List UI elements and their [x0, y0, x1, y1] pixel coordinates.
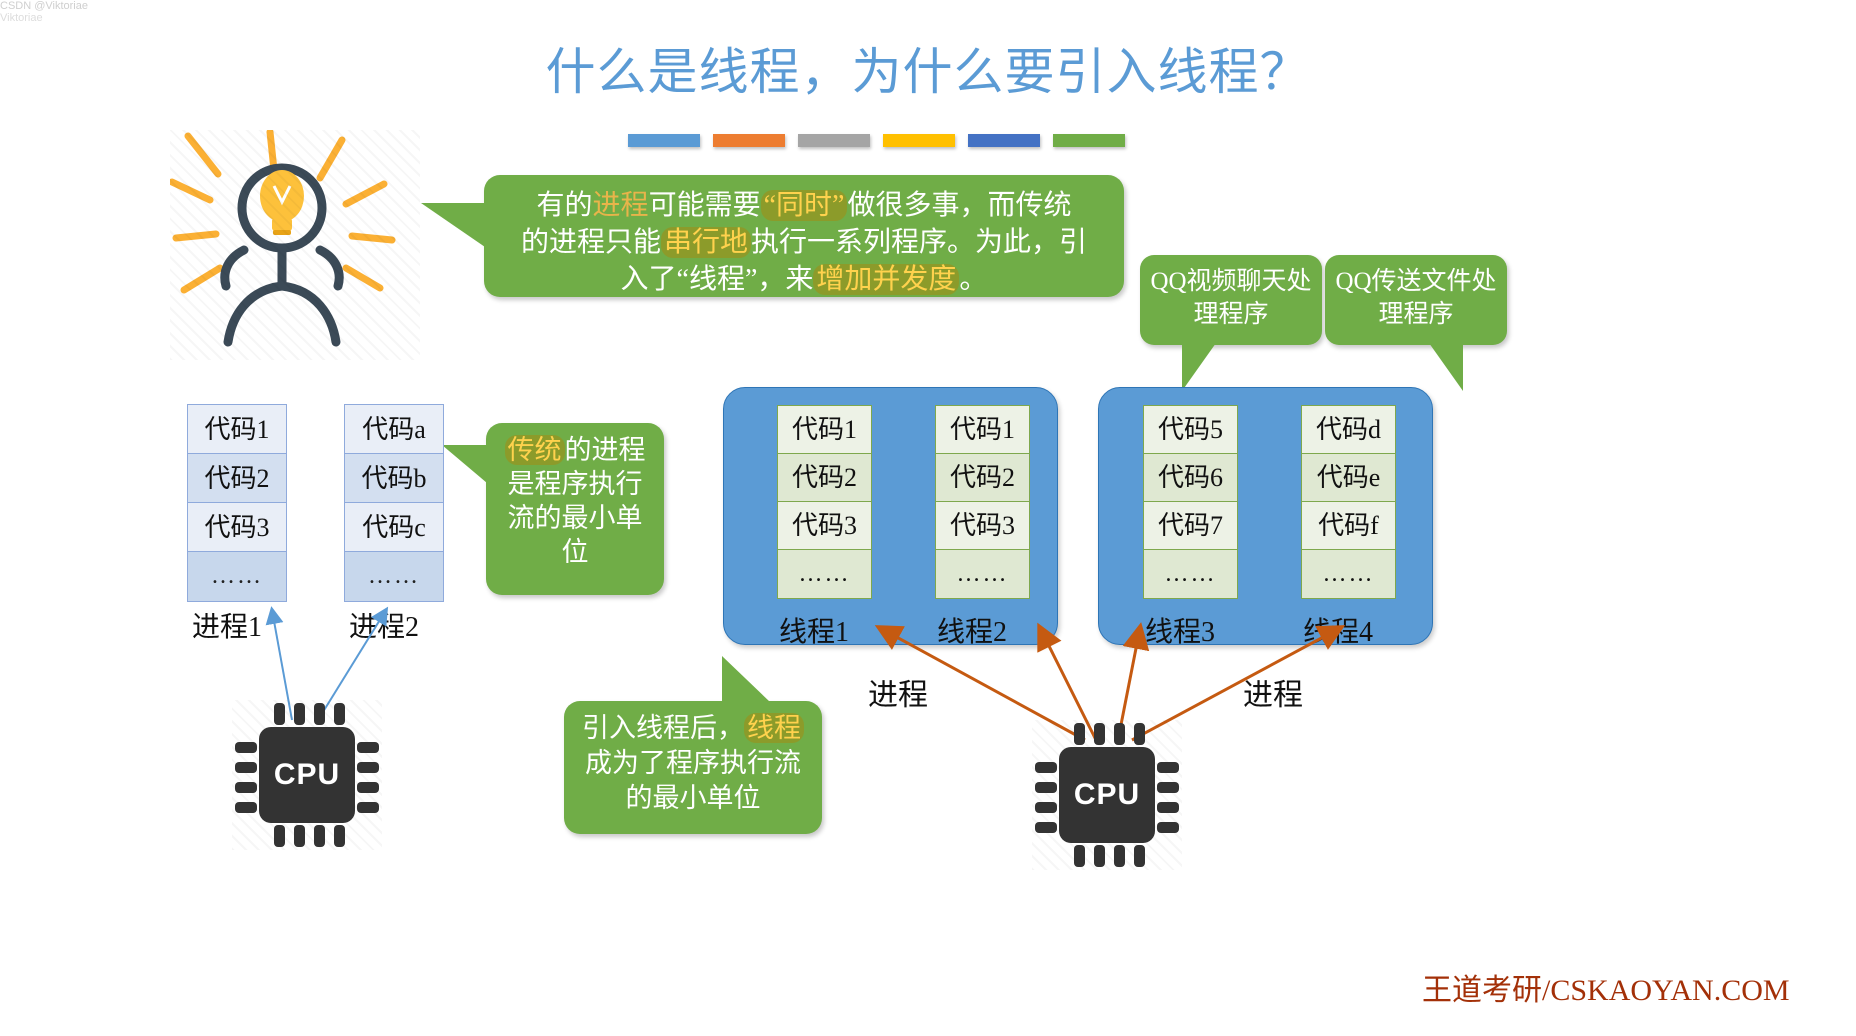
main-l1d: “同时”: [761, 190, 848, 221]
cpu-label: CPU: [259, 727, 355, 823]
cpu-label: CPU: [1059, 747, 1155, 843]
bar-green: [1053, 134, 1125, 147]
code-cell: 代码7: [1144, 502, 1237, 550]
callout-tail: [1429, 343, 1463, 391]
process-1-label: 进程1: [192, 605, 262, 645]
callout-tail: [421, 203, 485, 247]
traditional-process-callout: 传统的进程是程序执行流的最小单位: [486, 423, 664, 595]
main-l1b: 进程: [593, 190, 649, 221]
code-cell: 代码3: [936, 502, 1029, 550]
intro-a: 引入线程后，: [582, 713, 744, 743]
process-2-code-table: 代码a 代码b 代码c ……: [344, 404, 444, 602]
bar-gray: [798, 134, 870, 147]
page-title: 什么是线程，为什么要引入线程？: [0, 32, 1856, 104]
main-l3b: 增加并发度: [813, 264, 959, 295]
qq-video-callout-text: QQ视频聊天处理程序: [1140, 255, 1322, 342]
hatch-texture: [170, 130, 420, 360]
code-cell: 代码1: [778, 406, 871, 454]
bar-darkblue: [968, 134, 1040, 147]
code-cell: 代码3: [188, 503, 286, 552]
code-cell: 代码3: [778, 502, 871, 550]
main-explanation-callout: 有的进程可能需要“同时”做很多事，而传统 的进程只能串行地执行一系列程序。为此，…: [484, 175, 1124, 297]
code-cell: 代码5: [1144, 406, 1237, 454]
code-cell: 代码b: [345, 454, 443, 503]
accent-bar-row: [628, 134, 1125, 147]
slide-canvas: 什么是线程，为什么要引入线程？: [0, 0, 1856, 1036]
cpu-chip-right: CPU: [1032, 720, 1182, 870]
intro-hl: 线程: [744, 713, 804, 743]
code-cell: 代码a: [345, 405, 443, 454]
thread-4-code-table: 代码d 代码e 代码f ……: [1301, 405, 1396, 599]
author-watermark-secondary: Viktoriae: [0, 12, 1856, 24]
trad-hl: 传统: [505, 435, 565, 465]
main-l2c: 执行一系列程序。为此，引: [751, 227, 1087, 258]
code-cell: 代码6: [1144, 454, 1237, 502]
main-callout-text: 有的进程可能需要“同时”做很多事，而传统 的进程只能串行地执行一系列程序。为此，…: [484, 175, 1124, 313]
code-cell: 代码f: [1302, 502, 1395, 550]
process-b-label: 进程: [1243, 670, 1303, 714]
code-cell-ellipsis: ……: [188, 552, 286, 601]
thread-3-label: 线程3: [1145, 610, 1215, 650]
bar-blue: [628, 134, 700, 147]
main-l3c: 。: [959, 264, 987, 295]
main-l2b: 串行地: [661, 227, 751, 258]
bar-orange: [713, 134, 785, 147]
author-watermark: CSDN @Viktoriae: [0, 0, 1856, 12]
main-l1e: 做很多事，而传统: [847, 190, 1071, 221]
main-l1c: 可能需要: [649, 190, 761, 221]
code-cell-ellipsis: ……: [1144, 550, 1237, 598]
thread-2-label: 线程2: [937, 610, 1007, 650]
qq-file-callout-text: QQ传送文件处理程序: [1325, 255, 1507, 342]
traditional-callout-text: 传统的进程是程序执行流的最小单位: [486, 423, 664, 579]
code-cell-ellipsis: ……: [778, 550, 871, 598]
intro-b: 成为了程序执行流的最小单位: [585, 748, 801, 813]
thread-1-code-table: 代码1 代码2 代码3 ……: [777, 405, 872, 599]
code-cell: 代码2: [778, 454, 871, 502]
code-cell: 代码d: [1302, 406, 1395, 454]
code-cell: 代码2: [936, 454, 1029, 502]
site-watermark: 王道考研/CSKAOYAN.COM: [1422, 965, 1790, 1009]
lightbulb-person-illustration: [170, 130, 420, 360]
qq-file-callout: QQ传送文件处理程序: [1325, 255, 1507, 345]
cpu-chip-left: CPU: [232, 700, 382, 850]
callout-tail: [442, 445, 487, 483]
process-a-label: 进程: [868, 670, 928, 714]
process-1-code-table: 代码1 代码2 代码3 ……: [187, 404, 287, 602]
code-cell: 代码2: [188, 454, 286, 503]
qq-video-callout: QQ视频聊天处理程序: [1140, 255, 1322, 345]
code-cell-ellipsis: ……: [1302, 550, 1395, 598]
code-cell-ellipsis: ……: [936, 550, 1029, 598]
thread-3-code-table: 代码5 代码6 代码7 ……: [1143, 405, 1238, 599]
callout-tail: [722, 656, 770, 702]
main-l3a: 入了“线程”，来: [621, 264, 814, 295]
code-cell: 代码1: [188, 405, 286, 454]
callout-tail: [1182, 343, 1216, 391]
thread-intro-callout: 引入线程后，线程成为了程序执行流的最小单位: [564, 701, 822, 834]
process-2-label: 进程2: [349, 605, 419, 645]
thread-intro-callout-text: 引入线程后，线程成为了程序执行流的最小单位: [564, 701, 822, 826]
thread-4-label: 线程4: [1303, 610, 1373, 650]
code-cell: 代码c: [345, 503, 443, 552]
code-cell-ellipsis: ……: [345, 552, 443, 601]
bar-yellow: [883, 134, 955, 147]
main-l2a: 的进程只能: [521, 227, 661, 258]
thread-2-code-table: 代码1 代码2 代码3 ……: [935, 405, 1030, 599]
thread-1-label: 线程1: [779, 610, 849, 650]
code-cell: 代码1: [936, 406, 1029, 454]
code-cell: 代码e: [1302, 454, 1395, 502]
main-l1a: 有的: [537, 190, 593, 221]
